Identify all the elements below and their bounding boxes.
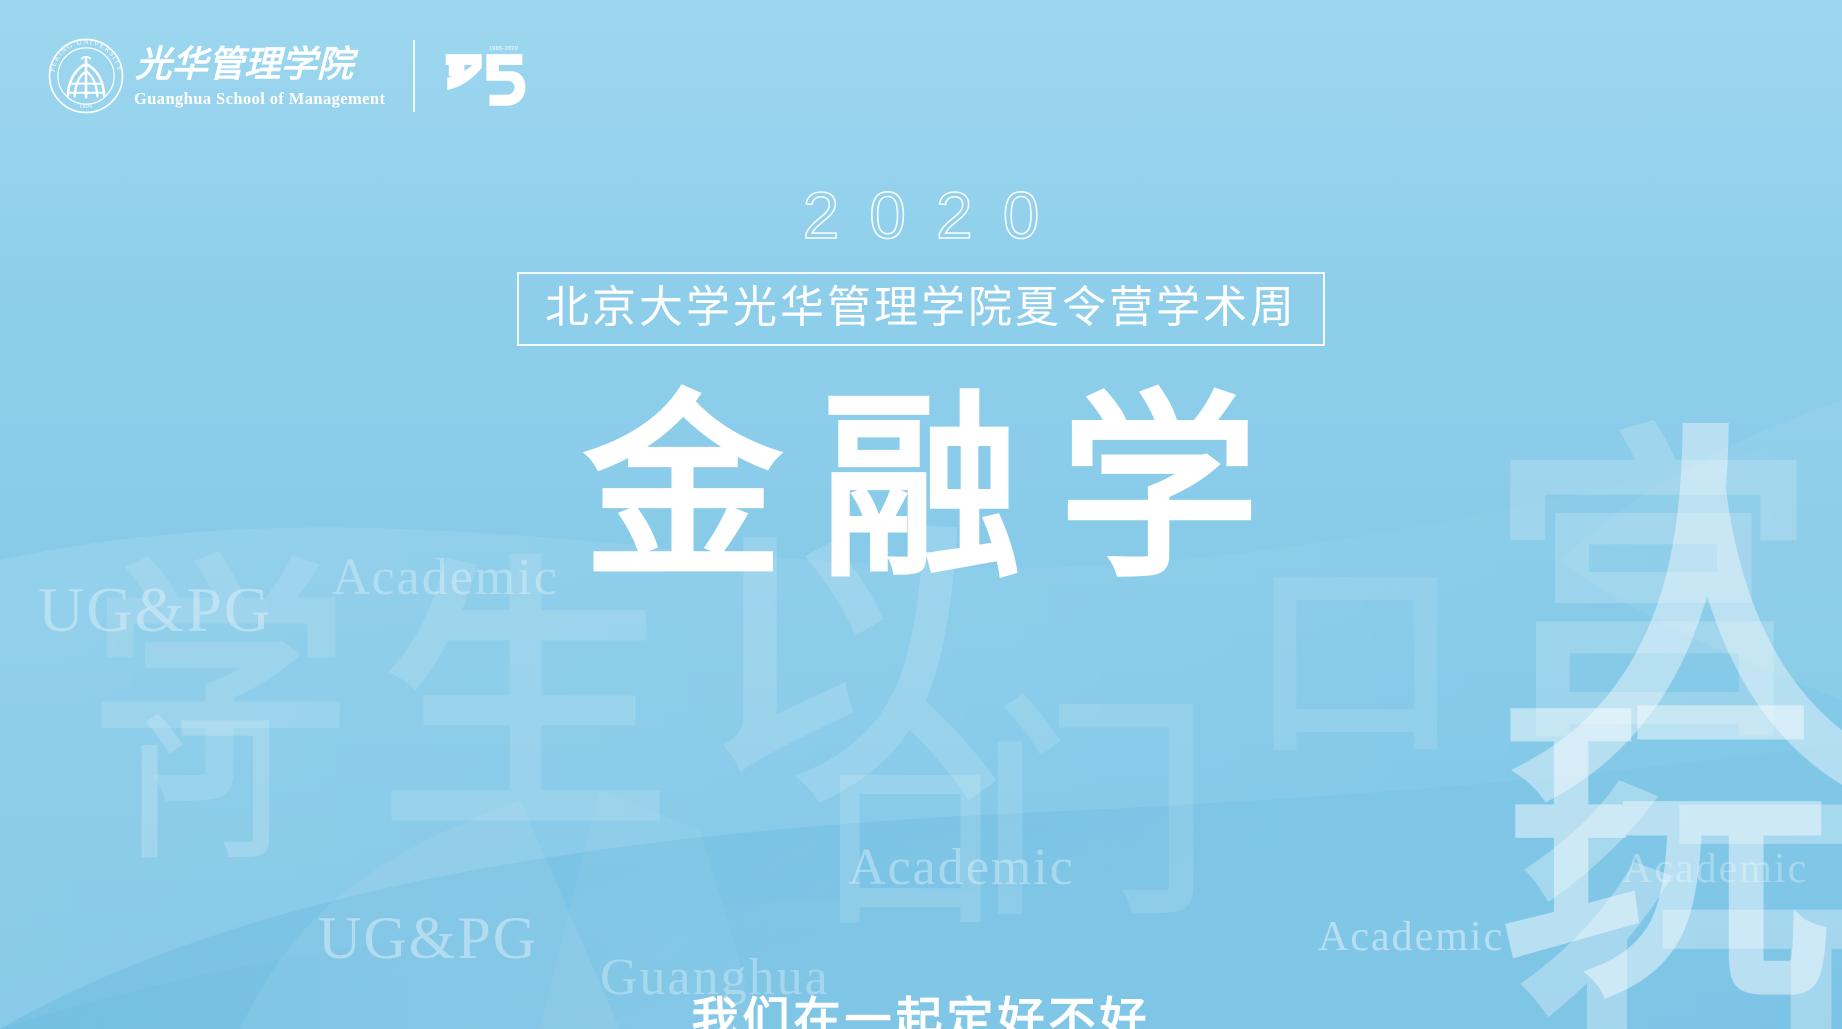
school-name-en: Guanghua School of Management bbox=[134, 91, 385, 108]
peking-university-seal-icon: PEKING UNIVERSITY 1898 bbox=[48, 38, 124, 114]
anniversary-years-label: 1985-2020 bbox=[489, 46, 518, 52]
centre-content: 2020 北京大学光华管理学院夏令营学术周 金融学 bbox=[0, 182, 1842, 592]
year-heading: 2020 bbox=[0, 182, 1842, 248]
bottom-caption: 我们在一起定好不好 bbox=[0, 996, 1842, 1029]
poster-canvas: 学门生以口门人玩宫行口UG&PGAcademicAcademicUG&PGGua… bbox=[0, 0, 1842, 1029]
anniversary-75-icon: 1985-2020 bbox=[441, 41, 527, 111]
school-name-cn-calligraphy-icon: 光华管理学院 bbox=[134, 42, 366, 86]
header-logo-row: PEKING UNIVERSITY 1898 光华管理学院 Guanghua S… bbox=[48, 38, 527, 114]
header-divider bbox=[413, 40, 415, 112]
subtitle-box: 北京大学光华管理学院夏令营学术周 bbox=[517, 272, 1325, 346]
svg-text:光华管理学院: 光华管理学院 bbox=[135, 45, 359, 85]
event-subtitle: 北京大学光华管理学院夏令营学术周 bbox=[545, 286, 1297, 330]
svg-text:1898: 1898 bbox=[79, 104, 92, 110]
school-wordmark: 光华管理学院 Guanghua School of Management bbox=[134, 42, 385, 110]
page-title: 金融学 bbox=[0, 392, 1842, 592]
